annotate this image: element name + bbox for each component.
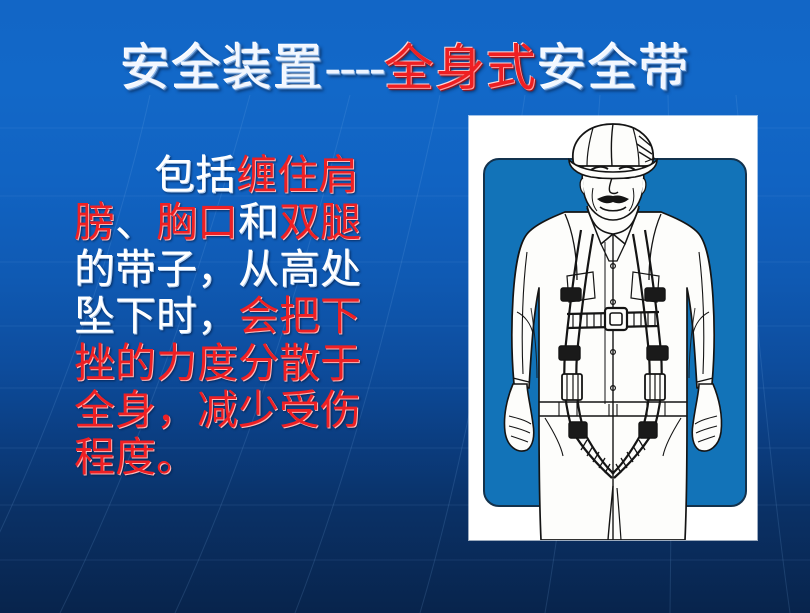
body-run-1-2-red: 缠住肩 <box>236 151 359 199</box>
body-run-1-1-white: 包括 <box>154 151 236 199</box>
title-segment-white-2: 安全带 <box>537 39 690 97</box>
body-run-2-2-white: 、 <box>115 198 156 246</box>
body-run-2-4-white: 和 <box>238 198 279 246</box>
body-line-2: 膀、胸口和双腿 <box>74 199 414 246</box>
safety-harness-worker-illustration <box>469 116 757 540</box>
body-line-1: 包括缠住肩 <box>74 152 414 199</box>
body-line-3: 的带子，从高处 <box>74 246 414 293</box>
picture-frame <box>469 116 757 540</box>
title-segment-dashes: ---- <box>324 39 384 97</box>
slide-canvas: 安全装置----全身式安全带 包括缠住肩膀、胸口和双腿的带子，从高处坠下时，会把… <box>0 0 810 613</box>
body-run-4-1-white: 坠下时， <box>74 292 238 340</box>
slide-title: 安全装置----全身式安全带 <box>0 42 810 95</box>
body-run-5-1-red: 挫的力度分散于 <box>74 339 361 387</box>
title-segment-red: 全身式 <box>384 39 537 97</box>
body-line-6: 全身，减少受伤 <box>74 387 414 434</box>
body-run-2-1-red: 膀 <box>74 198 115 246</box>
body-run-2-3-red: 胸口 <box>156 198 238 246</box>
title-segment-white-1: 安全装置 <box>120 39 324 97</box>
body-paragraph: 包括缠住肩膀、胸口和双腿的带子，从高处坠下时，会把下挫的力度分散于全身，减少受伤… <box>74 152 414 481</box>
body-run-2-5-red: 双腿 <box>279 198 361 246</box>
body-run-4-2-red: 会把下 <box>238 292 361 340</box>
body-line-4: 坠下时，会把下 <box>74 293 414 340</box>
body-run-7-1-red: 程度。 <box>74 433 197 481</box>
body-line-5: 挫的力度分散于 <box>74 340 414 387</box>
body-line-7: 程度。 <box>74 434 414 481</box>
body-run-6-1-red: 全身，减少受伤 <box>74 386 361 434</box>
body-run-3-1-white: 的带子，从高处 <box>74 245 361 293</box>
